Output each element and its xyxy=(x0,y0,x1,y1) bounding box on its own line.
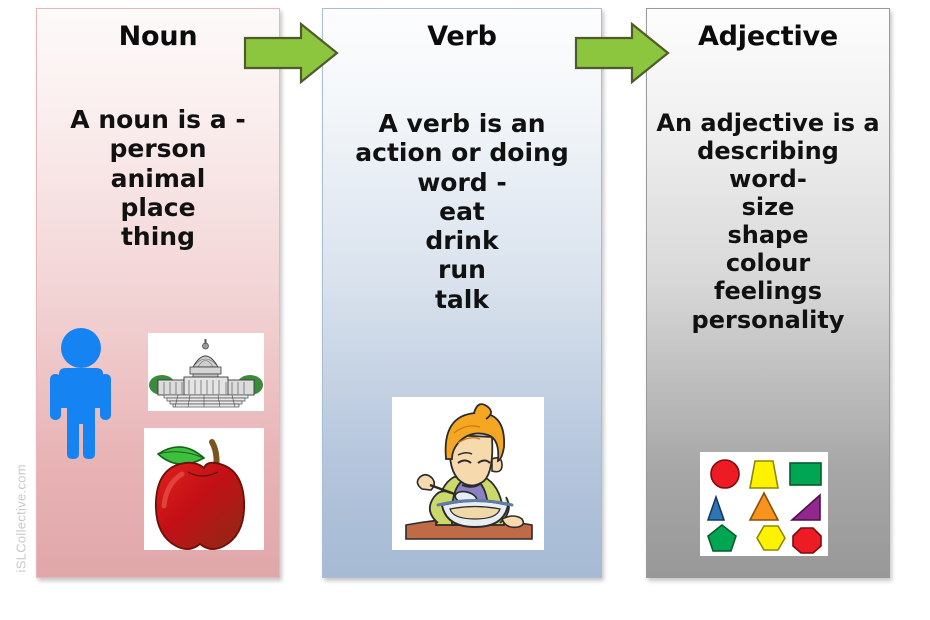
watermark-text: iSLCollective.com xyxy=(14,443,29,573)
noun-lead-text: A noun is a - xyxy=(45,105,271,134)
column-adjective-title: Adjective xyxy=(647,21,889,52)
poster-canvas: Noun A noun is a - person animal place t… xyxy=(0,0,930,620)
arrow-right-icon xyxy=(574,22,670,84)
column-adjective-body: An adjective is a describing word- size … xyxy=(655,109,881,334)
capitol-building-image xyxy=(148,333,264,411)
adjective-word-2: shape xyxy=(655,221,881,249)
verb-word-1: eat xyxy=(331,197,593,226)
verb-word-3: run xyxy=(331,255,593,284)
apple-image xyxy=(144,428,264,550)
shapes-grid-image xyxy=(700,452,828,556)
adjective-word-1: size xyxy=(655,193,881,221)
adjective-lead-text: An adjective is a describing word- xyxy=(655,109,881,193)
verb-word-2: drink xyxy=(331,226,593,255)
noun-word-2: animal xyxy=(45,164,271,193)
adjective-word-4: feelings xyxy=(655,277,881,305)
column-verb-body: A verb is an action or doing word - eat … xyxy=(331,109,593,314)
person-pictogram-icon xyxy=(42,326,138,462)
column-verb-title: Verb xyxy=(323,21,601,52)
child-eating-soup-image xyxy=(392,397,544,550)
adjective-word-5: personality xyxy=(655,306,881,334)
noun-word-1: person xyxy=(45,134,271,163)
column-noun-body: A noun is a - person animal place thing xyxy=(45,105,271,251)
verb-lead-text: A verb is an action or doing word - xyxy=(331,109,593,197)
arrow-right-icon xyxy=(243,22,339,84)
adjective-word-3: colour xyxy=(655,249,881,277)
verb-word-4: talk xyxy=(331,285,593,314)
noun-word-3: place xyxy=(45,193,271,222)
noun-word-4: thing xyxy=(45,222,271,251)
